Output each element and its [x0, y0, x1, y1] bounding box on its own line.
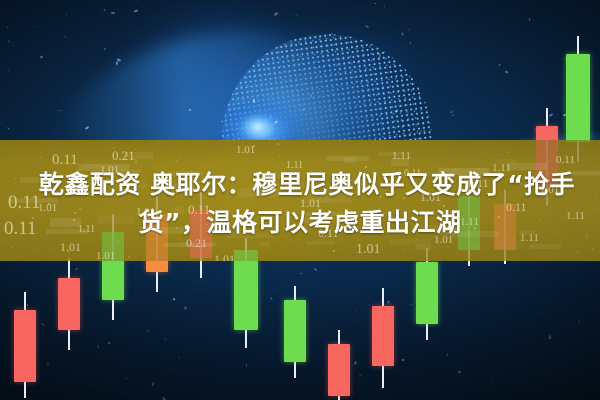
gold-band-dot	[507, 152, 508, 153]
gold-band-dot	[12, 247, 13, 248]
gold-band-dot	[153, 253, 154, 254]
gold-band-dot	[135, 149, 136, 150]
gold-band-dot	[255, 149, 256, 150]
gold-band-dot	[156, 145, 157, 146]
candlestick	[372, 288, 394, 388]
gold-band-dot	[208, 248, 209, 249]
gold-band-dot	[277, 143, 279, 145]
gold-band-dot	[113, 147, 115, 149]
gold-band-dot	[547, 146, 548, 147]
gold-band-bar	[471, 243, 481, 250]
gold-band-dot	[135, 161, 137, 163]
headline-line-1: 乾鑫配资 奥耶尔：穆里尼奥似乎又变成了“抢手	[0, 166, 600, 204]
candle-body	[372, 306, 394, 366]
gold-band-dot	[24, 253, 25, 254]
ticker-number: 1.11	[392, 150, 411, 162]
headline-line-2: 货”，温格可以考虑重出江湖	[0, 204, 600, 242]
gold-band-dot	[156, 151, 157, 152]
news-thumbnail-image: 0.110.110.111.011.011.111.011.010.211.01…	[0, 0, 600, 400]
gold-band-dot	[317, 251, 318, 252]
gold-band-dot	[129, 254, 130, 255]
gold-band-dot	[40, 157, 41, 158]
candlestick	[14, 292, 36, 398]
candle-body	[416, 262, 438, 324]
gold-band-dot	[134, 158, 136, 160]
gold-band-dot	[577, 251, 579, 253]
ticker-number: 0.11	[556, 154, 575, 166]
gold-band-dot	[246, 141, 247, 142]
gold-band-bar	[326, 156, 369, 161]
headline-text: 乾鑫配资 奥耶尔：穆里尼奥似乎又变成了“抢手 货”，温格可以考虑重出江湖	[0, 166, 600, 242]
candle-body	[328, 344, 350, 396]
gold-band-dot	[403, 250, 404, 251]
gold-band-dot	[18, 256, 19, 257]
gold-band-dot	[474, 250, 475, 251]
candle-body	[14, 310, 36, 382]
gold-band-dot	[427, 141, 428, 142]
candlestick	[58, 258, 80, 350]
gold-band-dot	[68, 251, 70, 253]
ticker-number: 0.21	[112, 148, 135, 164]
gold-band-bar	[259, 242, 270, 246]
candle-body	[58, 278, 80, 330]
candle-body	[284, 300, 306, 362]
gold-band-dot	[105, 164, 106, 165]
candle-body	[566, 54, 590, 142]
gold-band-dot	[578, 246, 579, 247]
gold-band-dot	[256, 164, 257, 165]
gold-band-dot	[544, 157, 545, 158]
candlestick	[284, 286, 306, 378]
gold-band-dot	[68, 157, 69, 158]
gold-band-dot	[333, 250, 335, 252]
gold-band-dot	[279, 156, 280, 157]
ticker-number: 1.01	[356, 242, 381, 258]
ticker-number: 1.01	[96, 250, 115, 261]
gold-band-dot	[180, 155, 181, 156]
gold-band-dot	[157, 158, 158, 159]
gold-band-dot	[169, 242, 170, 243]
gold-band-dot	[176, 160, 178, 162]
gold-band-dot	[128, 256, 130, 258]
candlestick	[416, 248, 438, 340]
ticker-number: 1.01	[214, 252, 235, 261]
gold-band-dot	[32, 251, 33, 252]
gold-band-dot	[50, 149, 51, 150]
gold-band-dot	[91, 260, 92, 261]
ticker-number: 1.01	[60, 240, 81, 255]
gold-band-dot	[592, 248, 593, 249]
gold-band-dot	[253, 145, 255, 147]
gold-band-bar	[529, 244, 561, 249]
candle-body	[234, 250, 258, 330]
gold-band-dot	[129, 250, 130, 251]
gold-band-dot	[485, 152, 486, 153]
candlestick	[328, 330, 350, 400]
